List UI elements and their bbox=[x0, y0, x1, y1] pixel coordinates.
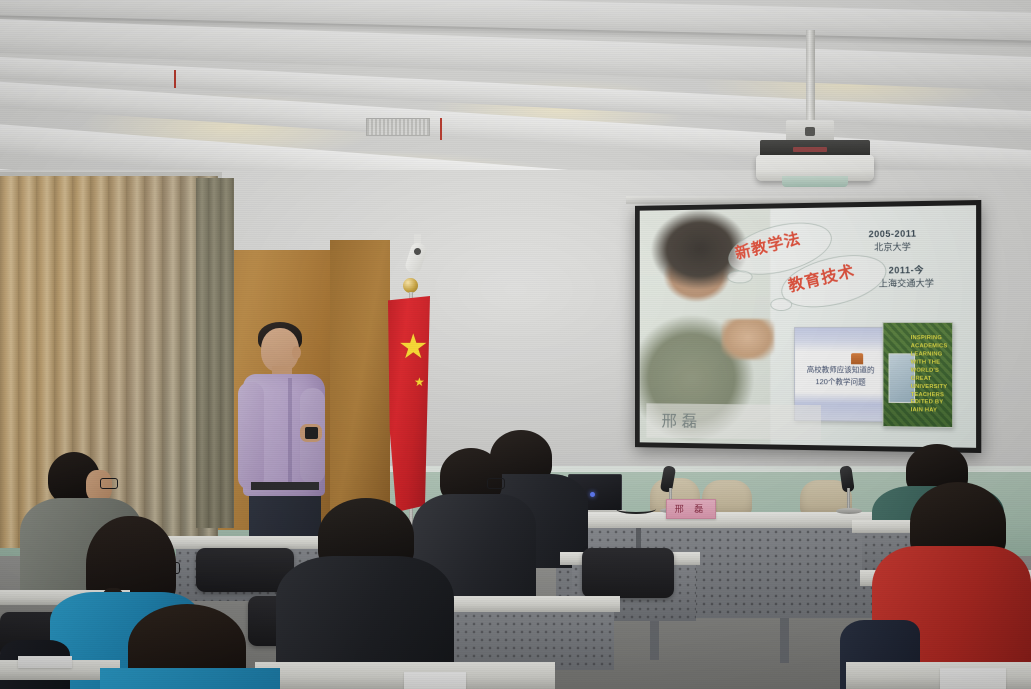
flag-star-icon: ★ bbox=[414, 376, 425, 388]
ceiling-wire bbox=[440, 118, 442, 140]
ceiling-wire bbox=[174, 70, 176, 88]
presenter-belt bbox=[251, 482, 319, 490]
laptop-power-led-icon bbox=[590, 492, 595, 497]
affiliation-years: 2011-今 bbox=[845, 263, 969, 277]
presenter-left-arm bbox=[238, 382, 264, 490]
affiliation-institution: 上海交通大学 bbox=[845, 277, 969, 291]
projector-mount-pole bbox=[806, 30, 815, 126]
desk-paper bbox=[404, 672, 466, 689]
affiliation-institution: 北京大学 bbox=[828, 241, 959, 256]
eyeglasses-icon bbox=[487, 478, 505, 489]
slide-presenter-name: 邢磊 bbox=[662, 408, 702, 432]
table-leg bbox=[780, 618, 789, 663]
microphone-base bbox=[836, 508, 862, 514]
book-title-chinese: 高校教师应该知道的 120个教学问题 bbox=[800, 364, 881, 387]
affiliation-entry: 2011-今 上海交通大学 bbox=[845, 263, 969, 290]
projector-brand-logo bbox=[793, 147, 827, 152]
presenter-ear bbox=[292, 346, 301, 359]
projector-bracket bbox=[786, 120, 834, 142]
flagpole-finial bbox=[403, 278, 418, 293]
wood-wall-panel bbox=[330, 240, 390, 530]
affiliation-entry: 2005-2011 北京大学 bbox=[828, 227, 959, 255]
audience-chair bbox=[582, 548, 674, 598]
slide-name-banner: 邢磊 bbox=[646, 403, 821, 441]
slide-speaker-hand bbox=[721, 319, 774, 359]
microphone-stand bbox=[847, 488, 850, 510]
book-title-english: INSPIRING ACADEMICS LEARNING WITH THE WO… bbox=[911, 335, 951, 416]
audience-person-blue-top bbox=[100, 668, 280, 689]
book-cover-ornament-icon bbox=[851, 354, 863, 364]
eyeglasses-icon bbox=[100, 478, 118, 489]
projection-screen: 新教学法 教育技术 2005-2011 北京大学 2011-今 上海交通大学 高… bbox=[635, 200, 981, 453]
student-desk-top bbox=[430, 596, 620, 612]
flag-star-icon: ★ bbox=[398, 330, 428, 364]
name-card-text: 邢 磊 bbox=[667, 502, 715, 515]
desk-paper bbox=[940, 668, 1006, 689]
table-leg bbox=[650, 618, 659, 660]
microphone-cable bbox=[616, 504, 656, 514]
window-curtain bbox=[196, 178, 234, 528]
air-vent bbox=[366, 118, 430, 136]
book-cover-english: INSPIRING ACADEMICS LEARNING WITH THE WO… bbox=[882, 322, 953, 428]
desk-paper bbox=[18, 656, 72, 668]
presentation-slide: 新教学法 教育技术 2005-2011 北京大学 2011-今 上海交通大学 高… bbox=[640, 205, 976, 448]
speech-bubble-tail bbox=[771, 298, 793, 311]
projector-lens bbox=[782, 176, 848, 187]
lecture-room-photo: ★ ★ 新教学法 教育技术 2005-2011 北京大学 2011-今 上海交通… bbox=[0, 0, 1031, 689]
presentation-clicker bbox=[305, 427, 318, 439]
presenter-shirt-placket bbox=[288, 378, 292, 490]
name-card: 邢 磊 bbox=[666, 499, 716, 519]
